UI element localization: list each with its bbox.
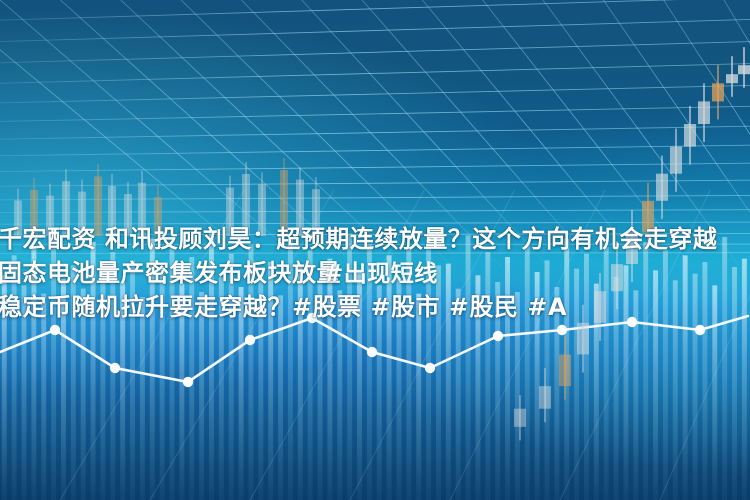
video-caption: 千宏配资 和讯投顾刘昊：超预期连续放量？这个方向有机会走穿越 固态电池量产密集发… [0, 222, 750, 324]
caption-line-2-text: 固态电池量产密集发布板块放量 [0, 259, 341, 287]
video-thumbnail: 千宏配资 和讯投顾刘昊：超预期连续放量？这个方向有机会走穿越 固态电池量产密集发… [0, 0, 750, 500]
caption-line-1: 千宏配资 和讯投顾刘昊：超预期连续放量？这个方向有机会走穿越 [0, 222, 748, 256]
caption-line-2: 固态电池量产密集发布板块放量 #出现短线 [0, 256, 748, 290]
caption-line-3: 稳定币随机拉升要走穿越？#股票 #股市 #股民 #A [0, 290, 748, 324]
caption-line-2-overlay: #出现短线 [324, 257, 438, 291]
